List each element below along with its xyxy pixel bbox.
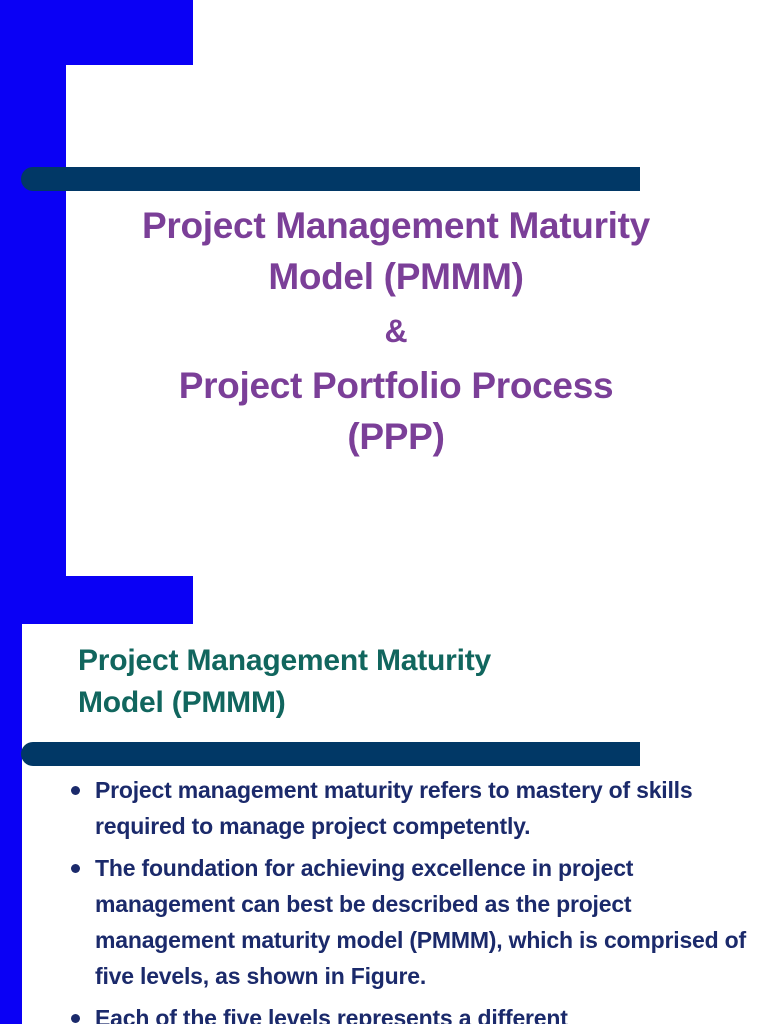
subtitle-line-2: (PPP) (66, 411, 726, 462)
decorative-blue-strip (0, 624, 22, 1024)
decorative-blue-block (0, 576, 193, 624)
bullet-list: Project management maturity refers to ma… (62, 772, 768, 1024)
decorative-blue-strip (0, 65, 66, 576)
title-line-1: Project Management Maturity (66, 200, 726, 251)
list-item: Project management maturity refers to ma… (62, 772, 768, 844)
title-line-2: Model (PMMM) (66, 251, 726, 302)
list-item: Each of the five levels represents a dif… (62, 1000, 768, 1024)
slide-deck: Project Management Maturity Model (PMMM)… (0, 0, 768, 1024)
slide-title: Project Management Maturity Model (PMMM)… (0, 0, 768, 576)
slide-heading-line-2: Model (PMMM) (78, 682, 688, 724)
title-ampersand: & (66, 302, 726, 360)
decorative-blue-block (0, 0, 193, 65)
title-group: Project Management Maturity Model (PMMM)… (66, 200, 726, 462)
slide-pmmm-intro: Project Management Maturity Model (PMMM)… (0, 576, 768, 1024)
list-item: The foundation for achieving excellence … (62, 850, 768, 994)
decorative-navy-bar (21, 742, 640, 766)
subtitle-line-1: Project Portfolio Process (66, 360, 726, 411)
slide-heading-line-1: Project Management Maturity (78, 640, 688, 682)
slide-heading: Project Management Maturity Model (PMMM) (78, 640, 688, 724)
decorative-navy-bar (21, 167, 640, 191)
